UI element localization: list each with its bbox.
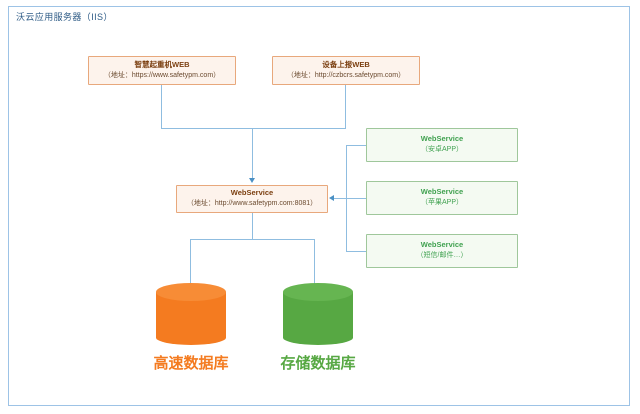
diagram-canvas: 沃云应用服务器（IIS） 智慧起重机WEB （地址：https://www.sa… — [0, 0, 640, 414]
connector-ios-stub — [346, 198, 366, 199]
arrow-into-core-right — [329, 195, 334, 201]
connector-web-bus — [161, 128, 346, 129]
side-service-ios-title: WebService — [421, 187, 463, 198]
side-service-ios[interactable]: WebService （苹果APP） — [366, 181, 518, 215]
connector-crane-down — [161, 85, 162, 128]
side-service-notify-note: （短信/邮件…） — [417, 251, 468, 261]
side-service-ios-note: （苹果APP） — [421, 198, 463, 208]
side-service-android[interactable]: WebService （安卓APP） — [366, 128, 518, 162]
database-storage-top — [283, 283, 353, 301]
connector-bus-to-core — [252, 128, 253, 178]
database-storage-label: 存储数据库 — [253, 352, 383, 373]
connector-notify-stub — [346, 251, 366, 252]
server-container-title: 沃云应用服务器（IIS） — [16, 10, 113, 23]
database-speed-top — [156, 283, 226, 301]
connector-bus-to-core-side — [334, 198, 346, 199]
connector-device-down — [345, 85, 346, 128]
arrow-into-core-top — [249, 178, 255, 183]
core-webservice-title: WebService — [231, 188, 273, 199]
side-service-android-note: （安卓APP） — [421, 145, 463, 155]
side-service-notify-title: WebService — [421, 240, 463, 251]
web-node-device-report-title: 设备上报WEB — [322, 60, 370, 71]
database-speed[interactable] — [156, 283, 226, 345]
web-node-crane-title: 智慧起重机WEB — [135, 60, 190, 71]
core-webservice-address: （地址：http://www.safetypm.com:8081） — [187, 199, 317, 209]
database-storage[interactable] — [283, 283, 353, 345]
web-node-crane-address: （地址：https://www.safetypm.com） — [104, 71, 220, 81]
connector-db-bus — [190, 239, 315, 240]
web-node-device-report-address: （地址：http://czbcrs.safetypm.com） — [287, 71, 405, 81]
side-service-android-title: WebService — [421, 134, 463, 145]
connector-core-down — [252, 213, 253, 239]
web-node-device-report[interactable]: 设备上报WEB （地址：http://czbcrs.safetypm.com） — [272, 56, 420, 85]
web-node-crane[interactable]: 智慧起重机WEB （地址：https://www.safetypm.com） — [88, 56, 236, 85]
core-webservice-node[interactable]: WebService （地址：http://www.safetypm.com:8… — [176, 185, 328, 213]
side-service-notify[interactable]: WebService （短信/邮件…） — [366, 234, 518, 268]
connector-android-stub — [346, 145, 366, 146]
connector-side-bus — [346, 145, 347, 251]
database-speed-label: 高速数据库 — [126, 352, 256, 373]
